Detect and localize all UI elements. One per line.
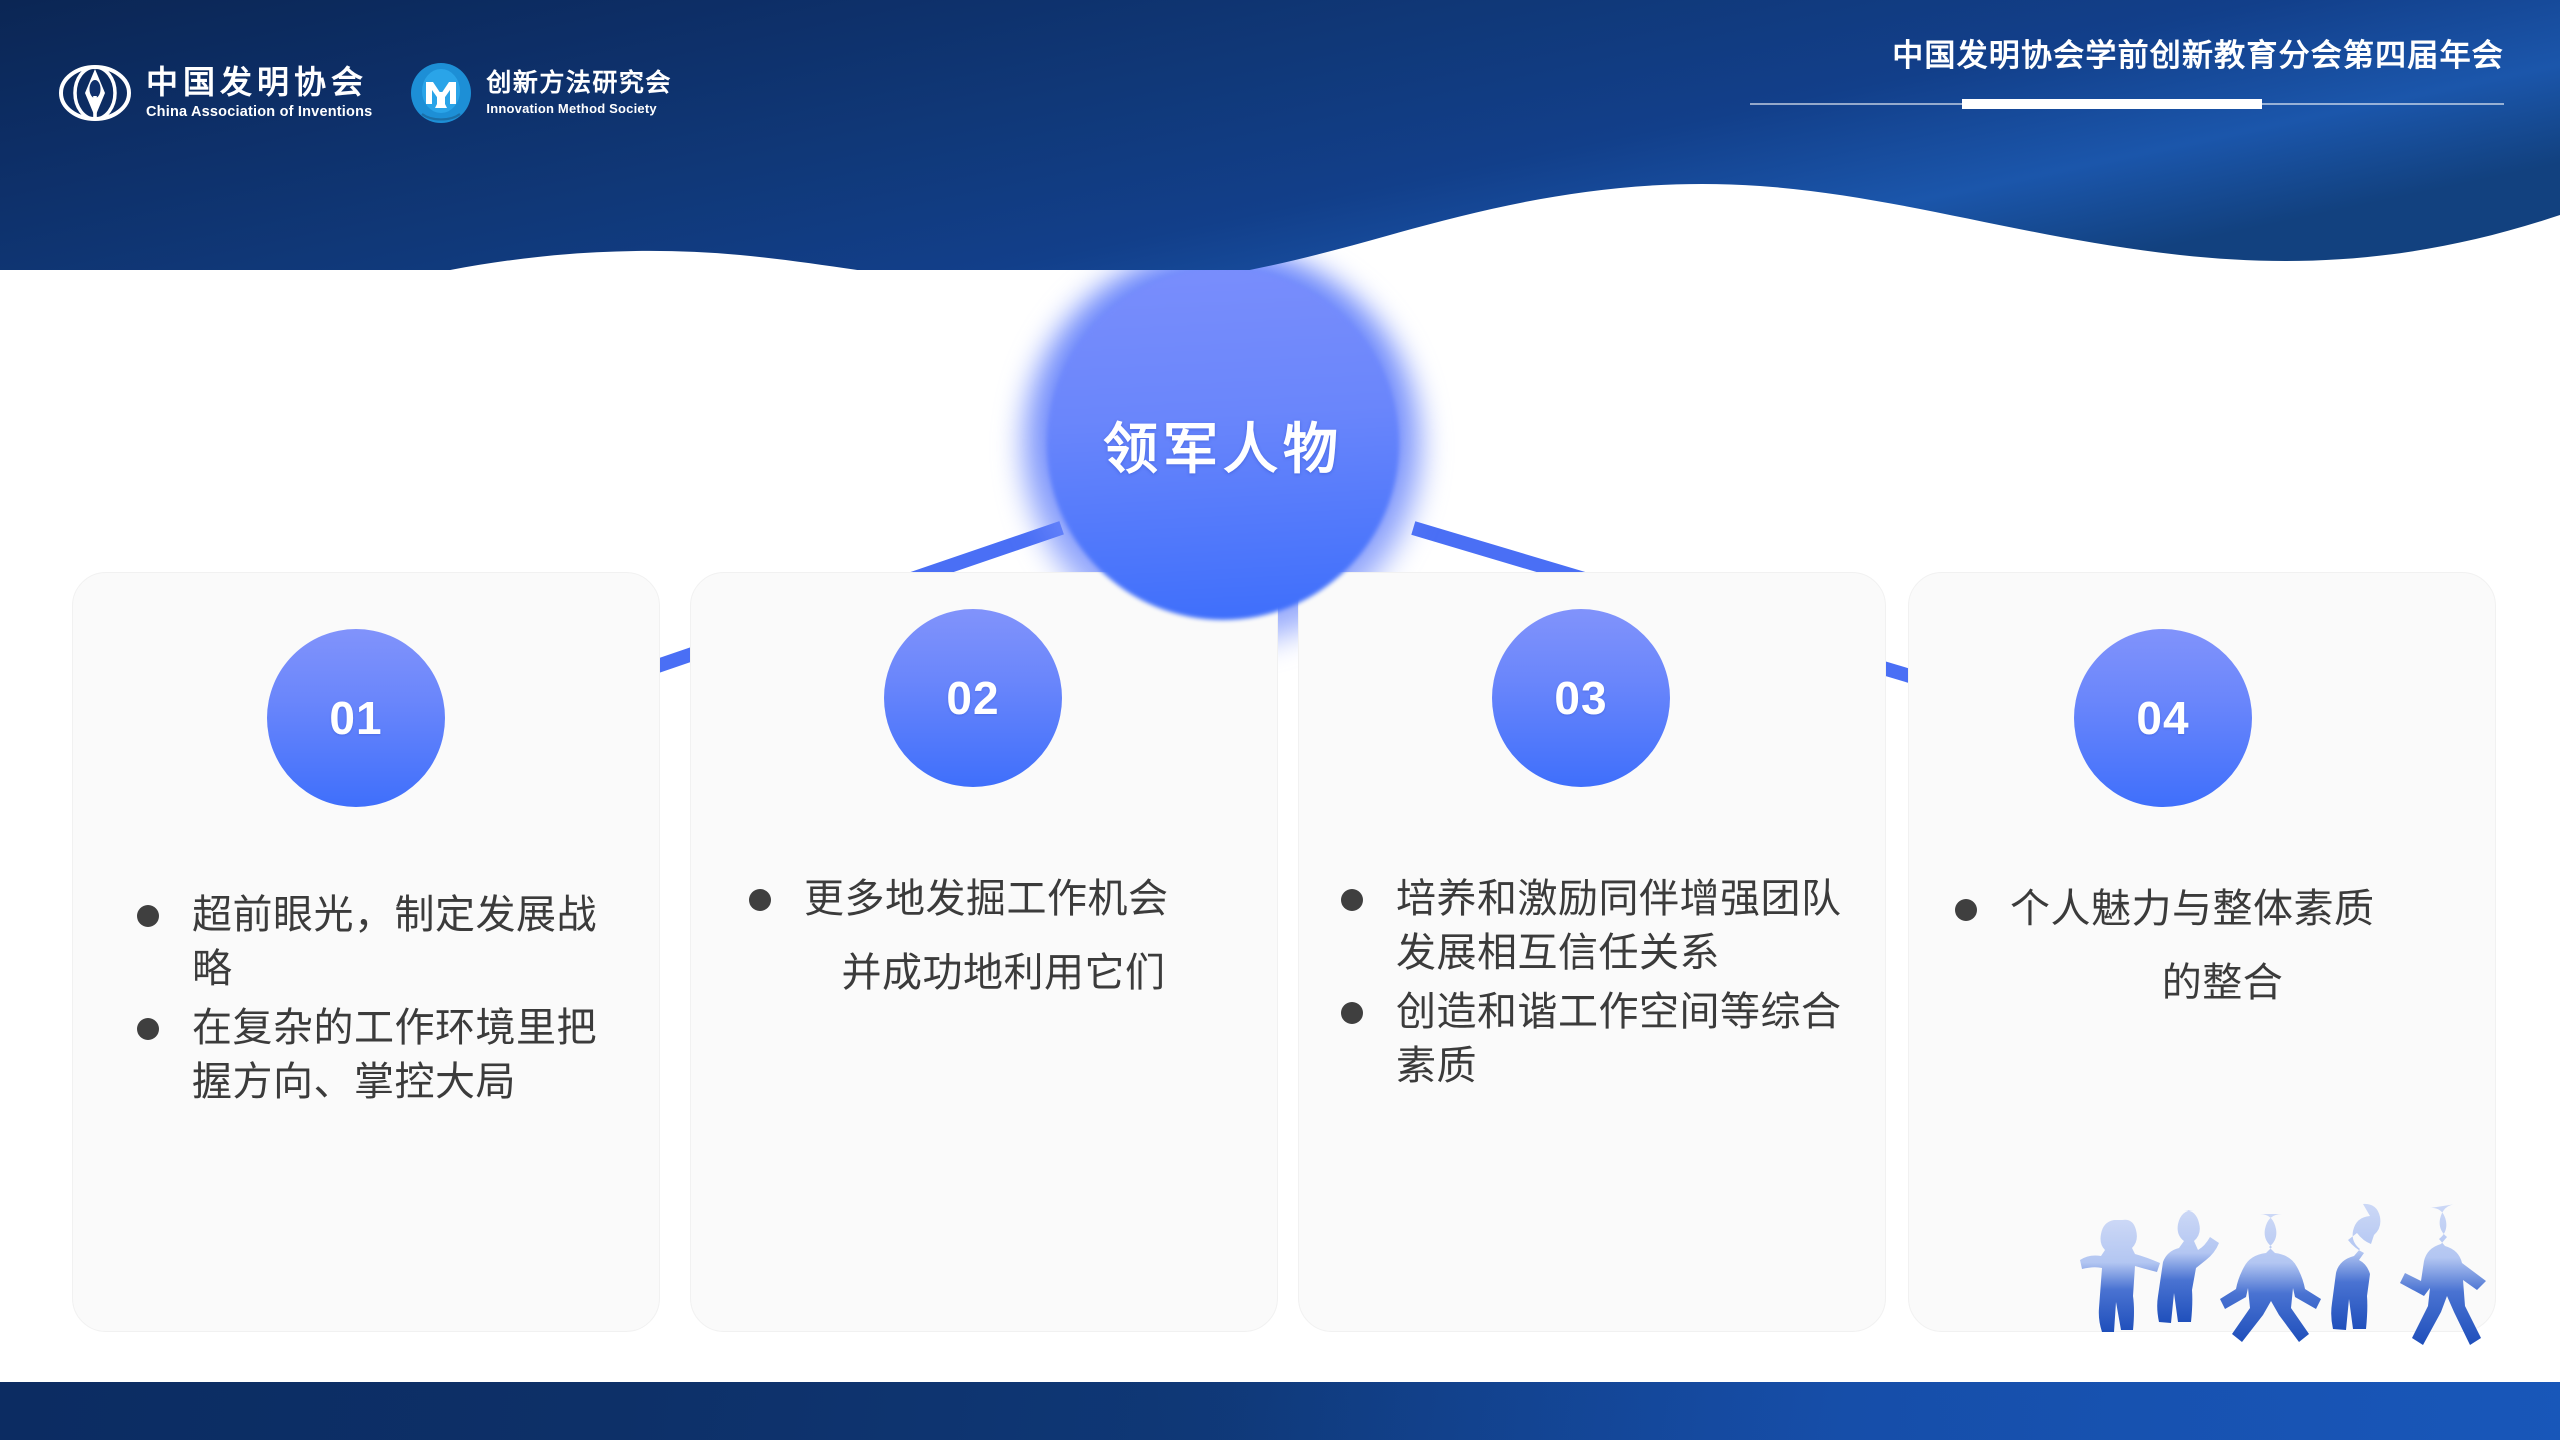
header-rule-thick [1962, 99, 2262, 109]
list-item: 在复杂的工作环境里把握方向、掌控大局 [129, 1002, 619, 1109]
card-01-number-badge: 01 [267, 629, 445, 807]
list-item: 更多地发掘工作机会 并成功地利用它们 [741, 873, 1243, 1000]
bullet-text: 个人魅力与整体素质 [2010, 886, 2375, 932]
bullet-text: 更多地发掘工作机会 [804, 876, 1169, 922]
card-04-number-badge: 04 [2074, 629, 2252, 807]
card-02-bullets: 更多地发掘工作机会 并成功地利用它们 [741, 873, 1243, 1000]
slide-root: 中国发明协会 China Association of Inventions 创… [0, 0, 2560, 1440]
card-03-number-badge: 03 [1492, 609, 1670, 787]
bullet-text: 在复杂的工作环境里把握方向、掌控大局 [192, 1005, 597, 1105]
logo-cn-label: 中国发明协会 [146, 66, 372, 98]
card-03-bullets: 培养和激励同伴增强团队发展相互信任关系 创造和谐工作空间等综合素质 [1333, 873, 1867, 1093]
logo-cn-label: 创新方法研究会 [486, 71, 672, 96]
logo-text-cai: 中国发明协会 China Association of Inventions [146, 66, 372, 120]
hub-circle [1047, 268, 1399, 620]
logo-en-label: China Association of Inventions [146, 105, 372, 120]
card-02-number-badge: 02 [884, 609, 1062, 787]
card-01-bullets: 超前眼光，制定发展战略 在复杂的工作环境里把握方向、掌控大局 [129, 889, 619, 1109]
logo-group: 中国发明协会 China Association of Inventions 创… [58, 56, 672, 130]
bullet-text: 创造和谐工作空间等综合素质 [1396, 989, 1842, 1089]
logo-en-label: Innovation Method Society [486, 102, 672, 115]
footer-bar [0, 1382, 2560, 1440]
list-item: 创造和谐工作空间等综合素质 [1333, 986, 1867, 1093]
logo-innovation-method-society: 创新方法研究会 Innovation Method Society [410, 62, 672, 124]
header: 中国发明协会 China Association of Inventions 创… [0, 0, 2560, 200]
bullet-text-continued: 并成功地利用它们 [764, 947, 1243, 1001]
list-item: 个人魅力与整体素质 的整合 [1947, 883, 2475, 1010]
card-04-bullets: 个人魅力与整体素质 的整合 [1947, 883, 2475, 1010]
logo-china-association-of-inventions: 中国发明协会 China Association of Inventions [58, 56, 372, 130]
bullet-text: 培养和激励同伴增强团队发展相互信任关系 [1396, 876, 1842, 976]
header-title-block: 中国发明协会学前创新教育分会第四届年会 [1724, 40, 2504, 109]
china-association-of-inventions-emblem-icon [58, 56, 132, 130]
page-title: 中国发明协会学前创新教育分会第四届年会 [1724, 40, 2504, 71]
innovation-method-society-emblem-icon [410, 62, 472, 124]
bullet-text: 超前眼光，制定发展战略 [192, 892, 597, 992]
bullet-text-continued: 的整合 [1970, 957, 2475, 1011]
cards-container: 超前眼光，制定发展战略 在复杂的工作环境里把握方向、掌控大局 更多地发掘工作机会… [0, 0, 2560, 1440]
header-rule [1724, 99, 2504, 109]
list-item: 培养和激励同伴增强团队发展相互信任关系 [1333, 873, 1867, 980]
list-item: 超前眼光，制定发展战略 [129, 889, 619, 996]
logo-text-ims: 创新方法研究会 Innovation Method Society [486, 71, 672, 115]
